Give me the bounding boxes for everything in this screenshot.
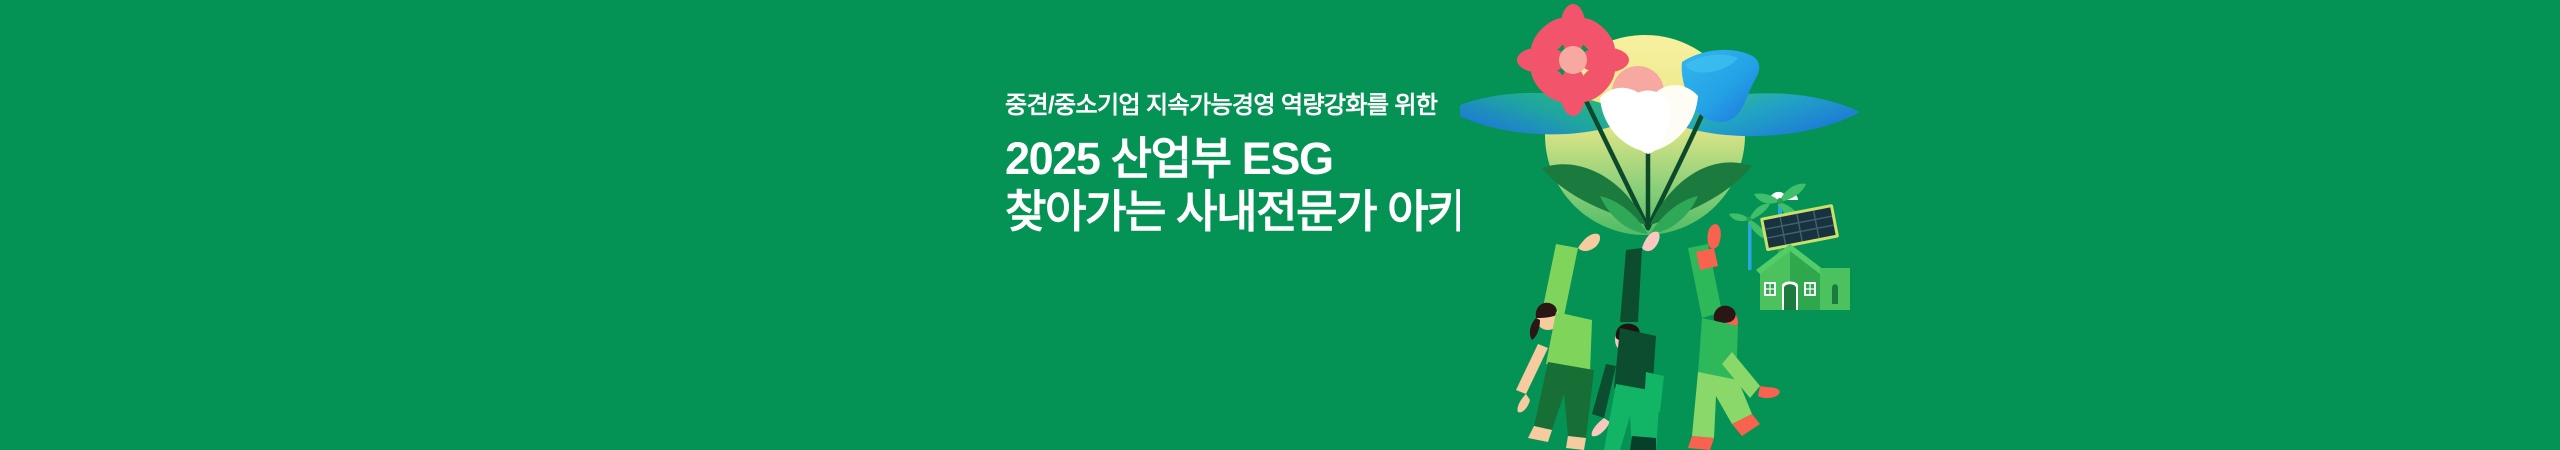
- house-window: [1764, 282, 1776, 296]
- esg-academy-promo-banner: 중견/중소기업 지속가능경영 역량강화를 위한 2025 산업부 ESG 찾아가…: [0, 0, 2560, 450]
- esg-illustration: [1460, 0, 1890, 450]
- house-window: [1804, 282, 1816, 296]
